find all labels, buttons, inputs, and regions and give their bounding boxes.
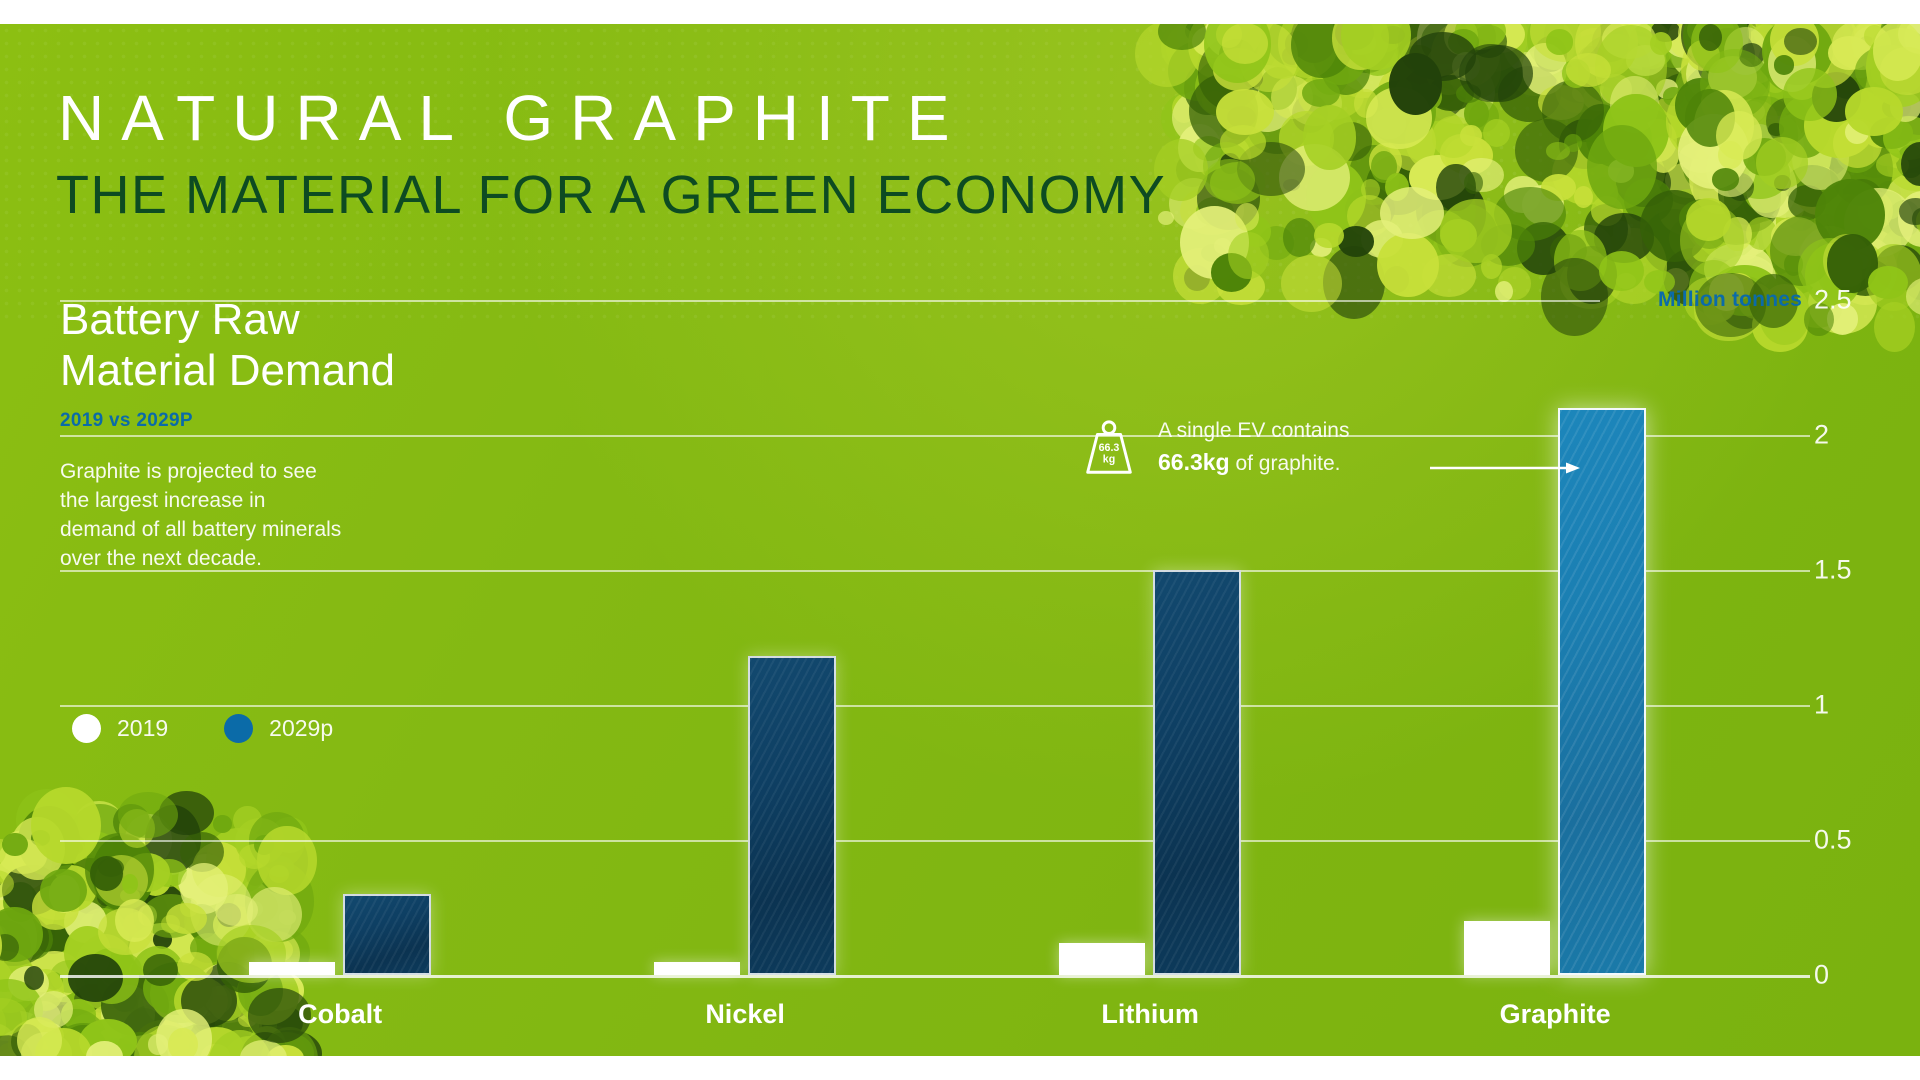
bar-lithium-2029p[interactable] bbox=[1153, 570, 1241, 975]
chart-legend: 20192029p bbox=[72, 714, 333, 743]
legend-label: 2019 bbox=[117, 715, 168, 742]
ev-callout-text: A single EV contains66.3kg of graphite. bbox=[1158, 416, 1349, 479]
gridline-1 bbox=[60, 705, 1810, 707]
y-axis-unit-label: Million tonnes bbox=[1658, 288, 1802, 312]
ev-graphite-weight: 66.3kg bbox=[1158, 449, 1230, 475]
panel-title: Battery Raw Material Demand bbox=[60, 294, 530, 396]
poster-background: NATURAL GRAPHITE THE MATERIAL FOR A GREE… bbox=[0, 24, 1920, 1056]
category-label-graphite: Graphite bbox=[1500, 999, 1611, 1030]
y-axis-tick-2: 2 bbox=[1814, 420, 1894, 451]
y-axis-tick-1: 1 bbox=[1814, 690, 1894, 721]
svg-text:66.3: 66.3 bbox=[1099, 442, 1120, 454]
legend-item-2029p[interactable]: 2029p bbox=[224, 714, 333, 743]
gridline-0.5 bbox=[60, 840, 1810, 842]
ev-callout-line1: A single EV contains bbox=[1158, 416, 1349, 446]
panel-kicker: 2019 vs 2029P bbox=[60, 410, 530, 432]
bar-nickel-2029p[interactable] bbox=[748, 656, 836, 975]
legend-swatch-2029p bbox=[224, 714, 253, 743]
legend-label: 2029p bbox=[269, 715, 333, 742]
category-label-nickel: Nickel bbox=[705, 999, 785, 1030]
bar-cobalt-2019[interactable] bbox=[249, 962, 335, 976]
bar-graphite-2019[interactable] bbox=[1464, 921, 1550, 975]
weight-icon: 66.3 kg bbox=[1078, 418, 1140, 480]
category-label-cobalt: Cobalt bbox=[298, 999, 382, 1030]
gridline-0 bbox=[60, 975, 1810, 978]
info-panel: Battery Raw Material Demand 2019 vs 2029… bbox=[60, 294, 530, 574]
ev-callout: 66.3 kg A single EV contains66.3kg of gr… bbox=[1078, 416, 1349, 480]
y-axis-tick-1.5: 1.5 bbox=[1814, 555, 1894, 586]
ev-callout-line2: 66.3kg of graphite. bbox=[1158, 446, 1349, 479]
legend-item-2019[interactable]: 2019 bbox=[72, 714, 168, 743]
legend-swatch-2019 bbox=[72, 714, 101, 743]
svg-text:kg: kg bbox=[1103, 454, 1115, 466]
bar-lithium-2019[interactable] bbox=[1059, 943, 1145, 975]
panel-description: Graphite is projected to see the largest… bbox=[60, 458, 530, 574]
callout-arrow-icon bbox=[1430, 461, 1580, 475]
y-axis-tick-0: 0 bbox=[1814, 960, 1894, 991]
y-axis-tick-2.5: 2.5 bbox=[1814, 285, 1894, 316]
y-axis-tick-0.5: 0.5 bbox=[1814, 825, 1894, 856]
bar-cobalt-2029p[interactable] bbox=[343, 894, 431, 975]
bar-nickel-2019[interactable] bbox=[654, 962, 740, 976]
category-label-lithium: Lithium bbox=[1101, 999, 1198, 1030]
bar-graphite-2029p[interactable] bbox=[1558, 408, 1646, 975]
infographic-canvas: NATURAL GRAPHITE THE MATERIAL FOR A GREE… bbox=[0, 0, 1920, 1080]
